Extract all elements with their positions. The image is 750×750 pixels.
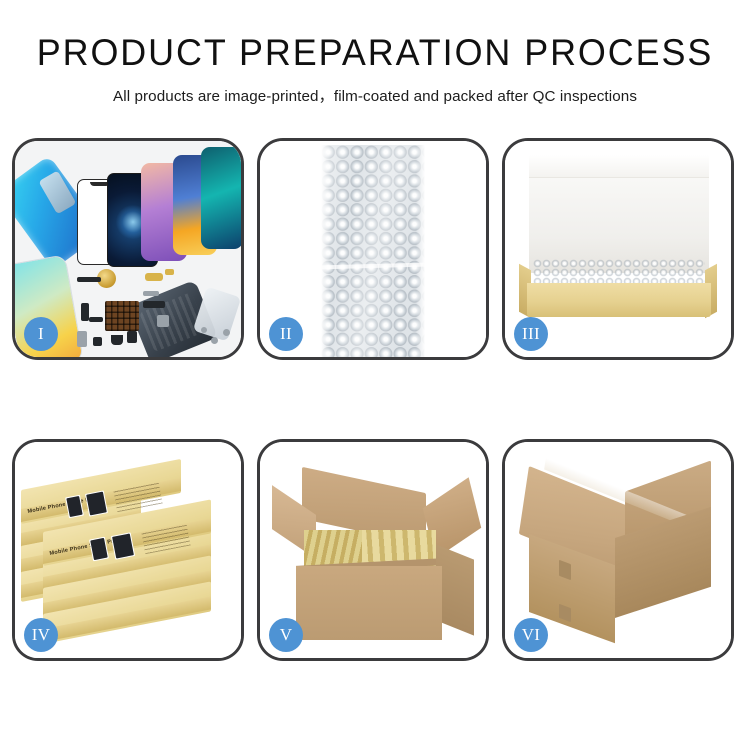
infographic-page: PRODUCT PREPARATION PROCESS All products… xyxy=(0,0,750,750)
step-panel-stacked-boxes: Mobile Phone Spare Parts Mobile Phone Sp… xyxy=(12,439,244,661)
step-badge-1: I xyxy=(24,317,58,351)
process-step-grid: I II xyxy=(12,138,738,661)
step-badge-4: IV xyxy=(24,618,58,652)
yellow-box-front-icon xyxy=(527,283,711,317)
step-panel-sealed-carton: VI xyxy=(502,439,734,661)
step-badge-5: V xyxy=(269,618,303,652)
step-badge-2: II xyxy=(269,317,303,351)
sealed-shipping-carton-icon xyxy=(529,466,715,636)
page-subtitle: All products are image-printed，film-coat… xyxy=(0,84,750,106)
chip-grid-part-icon xyxy=(105,301,139,331)
step-badge-3: III xyxy=(514,317,548,351)
step-panel-bubble-wrap: II xyxy=(257,138,489,360)
step-panel-inner-box: III xyxy=(502,138,734,360)
bubble-wrap-pouch-icon xyxy=(321,145,425,357)
page-title: PRODUCT PREPARATION PROCESS xyxy=(11,34,739,73)
teal-phone-icon xyxy=(201,147,241,249)
step-panel-phone-parts: I xyxy=(12,138,244,360)
step-panel-open-carton: V xyxy=(257,439,489,661)
box-lid-icon xyxy=(529,155,709,273)
bubble-wrapped-contents-icon xyxy=(533,259,705,285)
header: PRODUCT PREPARATION PROCESS All products… xyxy=(0,0,750,106)
open-shipping-carton-icon xyxy=(274,478,474,644)
step-badge-6: VI xyxy=(514,618,548,652)
